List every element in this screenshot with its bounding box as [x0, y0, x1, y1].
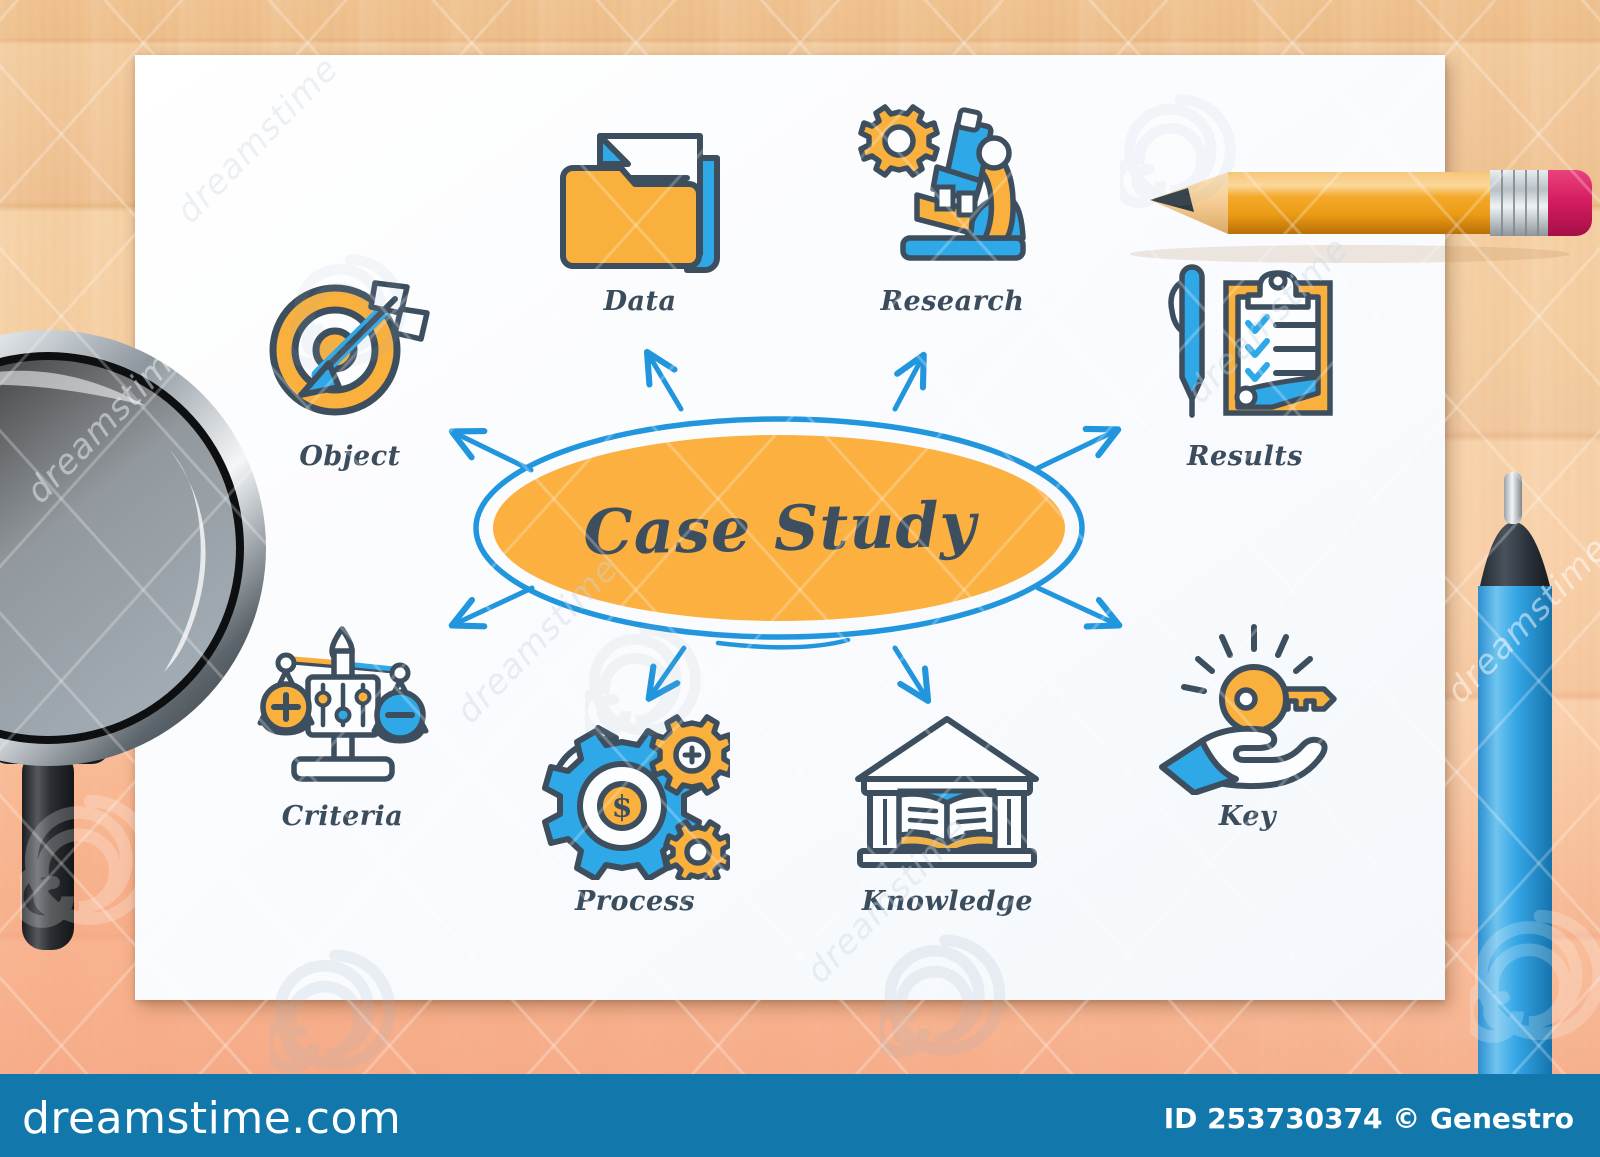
dreamstime-logo-text: dreamstime.com	[22, 1093, 401, 1144]
watermark-spiral-icon	[20, 790, 160, 930]
node-key-label: Key	[1219, 801, 1276, 832]
watermark-spiral-icon	[1470, 905, 1600, 1045]
node-criteria-label: Criteria	[282, 801, 404, 832]
watermark-spiral-icon	[270, 945, 400, 1075]
svg-text:$: $	[612, 790, 633, 825]
screenshot-canvas: Case Study Object	[0, 0, 1600, 1157]
node-process-label: Process	[575, 886, 695, 917]
watermark-spiral-icon	[585, 620, 705, 740]
node-research[interactable]: Research	[855, 95, 1050, 317]
folder-document-icon	[545, 100, 735, 280]
image-credit: ID 253730374 © Genestro	[1164, 1102, 1574, 1135]
microscope-gear-icon	[855, 95, 1050, 280]
node-object-label: Object	[299, 441, 400, 472]
dreamstime-logo: dreamstime.com	[22, 1093, 401, 1144]
watermark-spiral-icon	[290, 250, 410, 370]
watermark-spiral-icon	[1120, 90, 1240, 210]
node-key[interactable]: Key	[1150, 615, 1345, 832]
node-results-label: Results	[1187, 441, 1303, 472]
watermark-spiral-icon	[880, 930, 1010, 1060]
hand-holding-key-icon	[1150, 615, 1345, 795]
node-research-label: Research	[881, 286, 1025, 317]
node-data-label: Data	[604, 286, 677, 317]
node-data[interactable]: Data	[545, 100, 735, 317]
